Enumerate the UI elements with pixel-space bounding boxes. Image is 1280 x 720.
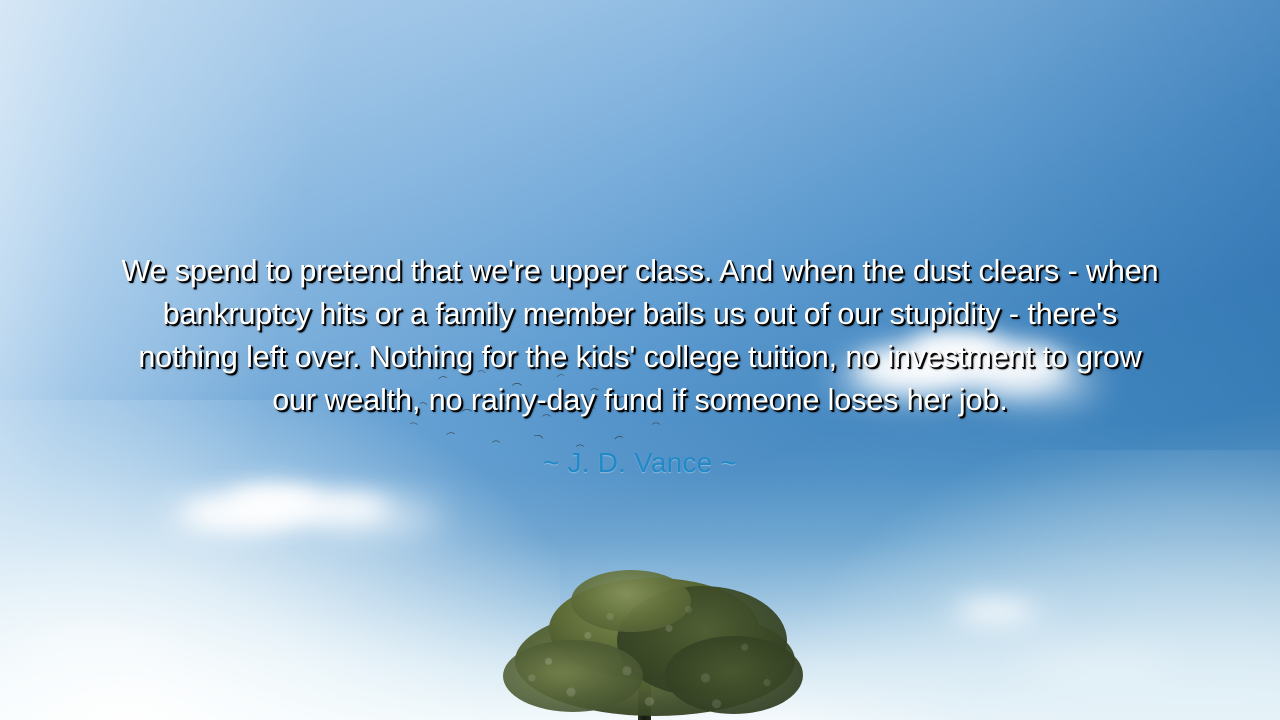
quote-text: We spend to pretend that we're upper cla… [120,250,1160,422]
quote-overlay: We spend to pretend that we're upper cla… [0,0,1280,720]
quote-image-canvas: ︵ ︵ ︵ ︵ ︵ ︵ ︵ ︵ ︵ ︵ ︵ ︵ ︵ ︵ ︵ ︵ ︵ ︵ [0,0,1280,720]
quote-author: ~ J. D. Vance ~ [543,446,737,480]
